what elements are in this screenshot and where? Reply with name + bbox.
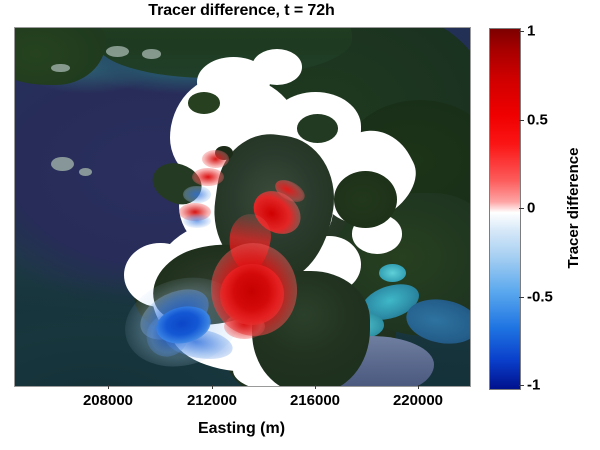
xtick-label-216000: 216000	[260, 392, 370, 409]
colorbar-tick-mark	[519, 297, 524, 298]
colorbar-label-1: 1	[527, 23, 535, 40]
colorbar-tick-mark	[519, 31, 524, 32]
colorbar-title: Tracer difference	[565, 148, 582, 269]
colorbar-label-0: 0	[527, 200, 535, 217]
xtick-mark	[108, 385, 109, 389]
xtick-label-212000: 212000	[157, 392, 267, 409]
colorbar[interactable]	[489, 28, 521, 390]
colorbar-tick-mark	[519, 120, 524, 121]
figure-root: Tracer difference, t = 72h	[0, 0, 600, 450]
xtick-mark	[418, 385, 419, 389]
x-axis-label: Easting (m)	[14, 420, 469, 438]
tracer-patch-negative-west-b	[183, 214, 210, 228]
tracer-patch-positive-north	[202, 150, 229, 168]
xtick-mark	[212, 385, 213, 389]
tracer-difference-field	[15, 28, 470, 386]
xtick-label-220000: 220000	[363, 392, 473, 409]
page-title: Tracer difference, t = 72h	[14, 2, 469, 20]
map-axes[interactable]	[14, 27, 471, 387]
colorbar-label--1: -1	[527, 377, 540, 394]
colorbar-gradient	[490, 29, 520, 389]
colorbar-tick-mark	[519, 385, 524, 386]
colorbar-label-0.5: 0.5	[527, 112, 548, 129]
tracer-patch-negative-west-a	[183, 186, 210, 204]
xtick-mark	[315, 385, 316, 389]
colorbar-tick-mark	[519, 208, 524, 209]
xtick-label-208000: 208000	[53, 392, 163, 409]
tracer-patch-positive-west-a	[192, 168, 224, 186]
colorbar-label--0.5: -0.5	[527, 289, 553, 306]
